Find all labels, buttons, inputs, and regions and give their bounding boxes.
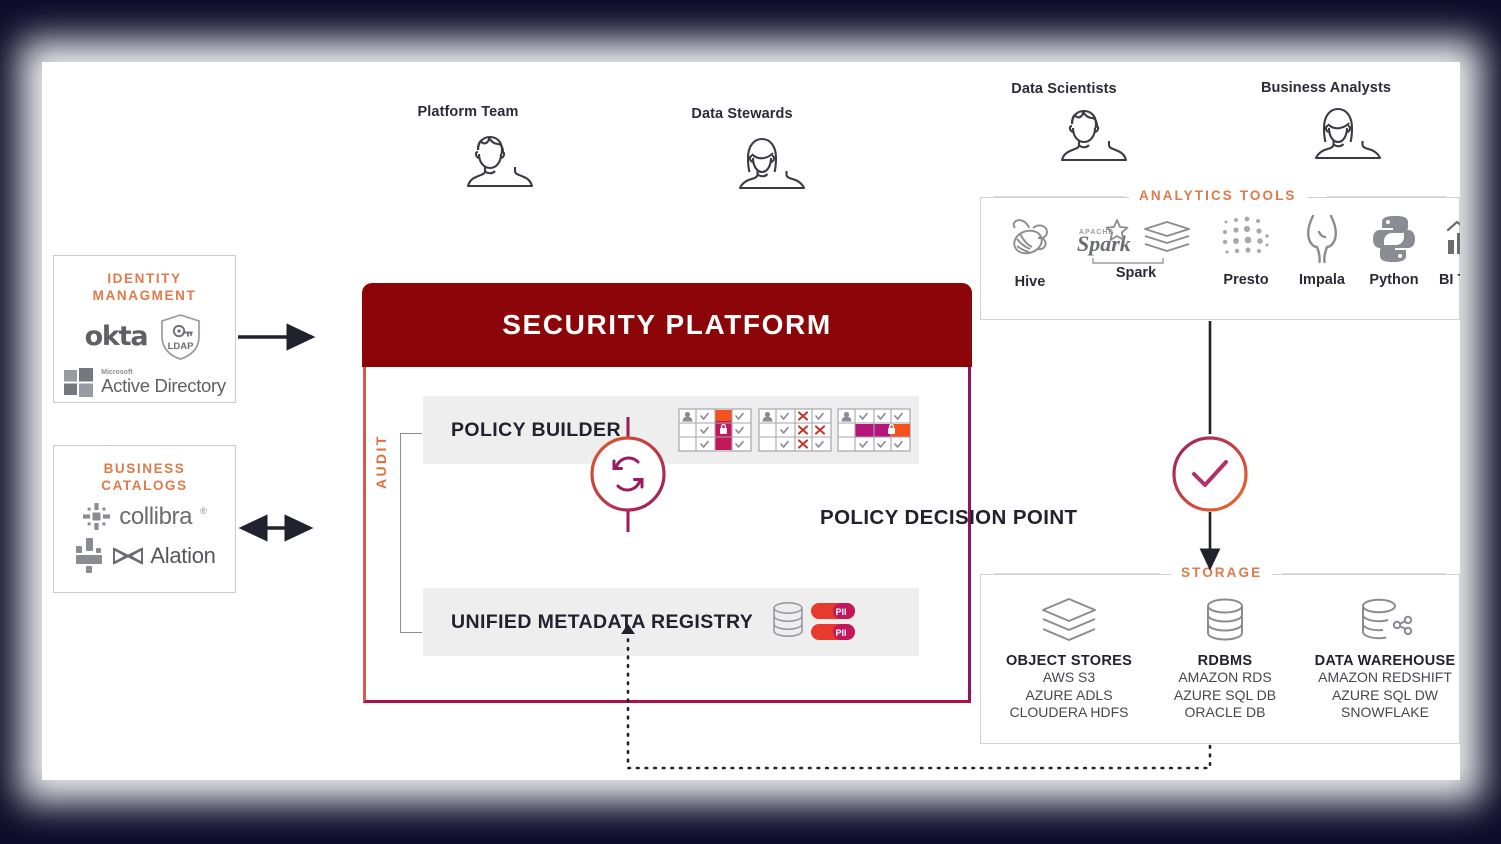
storage-title: STORAGE	[1171, 565, 1272, 580]
male-avatar-icon	[1050, 104, 1118, 166]
database-share-icon	[1357, 595, 1413, 647]
storage-data-warehouse[interactable]: DATA WAREHOUSE AMAZON REDSHIFT AZURE SQL…	[1299, 595, 1460, 722]
identity-management-title: IDENTITY MANAGMENT	[93, 270, 197, 304]
tool-spark[interactable]: APACHE Spark Spark	[1075, 212, 1197, 281]
business-catalogs-box: BUSINESS CATALOGS collibra ®	[53, 445, 236, 593]
tool-hive[interactable]: Hive	[991, 212, 1069, 290]
storage-item-line: AZURE SQL DW	[1299, 687, 1460, 705]
storage-item-line: AZURE SQL DB	[1147, 687, 1303, 705]
security-platform: SECURITY PLATFORM POLICY BUILDER	[362, 283, 972, 703]
security-platform-title: SECURITY PLATFORM	[502, 309, 832, 341]
persona-label-business-analysts: Business Analysts	[1228, 80, 1424, 96]
pii-badge: PII	[811, 603, 855, 619]
business-catalogs-title: BUSINESS CATALOGS	[101, 460, 188, 494]
storage-item-line: SNOWFLAKE	[1299, 704, 1460, 722]
audit-label: AUDIT	[373, 434, 389, 489]
alation-logo: Alation	[150, 543, 215, 569]
persona-label-platform-team: Platform Team	[388, 104, 548, 120]
storage-item-line: AMAZON REDSHIFT	[1299, 669, 1460, 687]
check-circle	[1174, 438, 1246, 510]
collibra-trademark: ®	[200, 506, 207, 516]
presto-dots-icon	[1216, 212, 1276, 266]
grid-lock-magenta	[679, 409, 751, 451]
analytics-title-rule	[995, 198, 1447, 199]
policy-decision-point-label: POLICY DECISION POINT	[820, 506, 1077, 530]
storage-item-line: CLOUDERA HDFS	[987, 704, 1151, 722]
tool-presto[interactable]: Presto	[1205, 212, 1287, 288]
svg-text:PII: PII	[836, 607, 847, 617]
svg-text:LDAP: LDAP	[168, 341, 195, 352]
persona-label-data-stewards: Data Stewards	[662, 106, 822, 122]
storage-item-line: AWS S3	[987, 669, 1151, 687]
tool-bi-tools[interactable]: BI Tools	[1423, 212, 1460, 288]
policy-builder-panel[interactable]: POLICY BUILDER	[423, 396, 919, 464]
storage-rdbms[interactable]: RDBMS AMAZON RDS AZURE SQL DB ORACLE DB	[1147, 595, 1303, 722]
security-platform-body: POLICY BUILDER	[363, 367, 971, 703]
bi-chart-search-icon	[1440, 212, 1460, 266]
apache-spark-icon: APACHE Spark	[1075, 212, 1197, 266]
alation-bowtie-icon	[112, 545, 145, 567]
policy-builder-title: POLICY BUILDER	[451, 419, 621, 442]
hive-bee-icon	[1003, 212, 1057, 266]
alation-mark-icon	[73, 537, 107, 575]
database-pii-icon: PII PII	[771, 599, 860, 645]
grid-deny	[759, 409, 831, 451]
microsoft-windows-icon	[63, 367, 94, 398]
diagram-canvas: Platform Team Data Stewards	[42, 62, 1460, 780]
impala-icon	[1299, 212, 1345, 266]
storage-item-title: OBJECT STORES	[987, 653, 1151, 669]
storage-item-title: DATA WAREHOUSE	[1299, 653, 1460, 669]
tool-label: Hive	[991, 274, 1069, 290]
svg-text:PII: PII	[836, 628, 847, 638]
identity-management-box: IDENTITY MANAGMENT okta LDAP	[53, 255, 236, 403]
analytics-tools-box: ANALYTICS TOOLS Hive APA	[980, 197, 1460, 320]
ldap-shield-icon: LDAP	[157, 312, 204, 361]
database-icon	[1201, 595, 1249, 647]
tool-label: Impala	[1281, 272, 1363, 288]
collibra-logo: collibra	[119, 503, 192, 531]
tool-label: BI Tools	[1423, 272, 1460, 288]
tool-impala[interactable]: Impala	[1281, 212, 1363, 288]
collibra-mark-icon	[82, 502, 111, 531]
analytics-tools-title: ANALYTICS TOOLS	[1129, 188, 1307, 203]
female-avatar-icon	[1304, 102, 1372, 164]
storage-item-line: AZURE ADLS	[987, 687, 1151, 705]
male-avatar-icon	[456, 130, 524, 192]
storage-box: STORAGE OBJECT STORES AWS S3 AZURE ADLS …	[980, 574, 1460, 744]
metadata-registry-panel[interactable]: UNIFIED METADATA REGISTRY PII	[423, 588, 919, 656]
persona-label-data-scientists: Data Scientists	[974, 81, 1154, 97]
metadata-registry-title: UNIFIED METADATA REGISTRY	[451, 611, 753, 634]
okta-logo: okta	[85, 321, 148, 352]
python-icon	[1370, 212, 1418, 266]
storage-item-title: RDBMS	[1147, 653, 1303, 669]
layers-icon	[1039, 595, 1099, 647]
storage-item-line: AMAZON RDS	[1147, 669, 1303, 687]
storage-item-line: ORACLE DB	[1147, 704, 1303, 722]
security-platform-header: SECURITY PLATFORM	[362, 283, 972, 367]
storage-object-stores[interactable]: OBJECT STORES AWS S3 AZURE ADLS CLOUDERA…	[987, 595, 1151, 722]
tool-label: Spark	[1075, 265, 1197, 281]
active-directory-logo: Active Directory	[101, 377, 226, 396]
female-avatar-icon	[728, 132, 796, 194]
pii-badge: PII	[811, 624, 855, 640]
databricks-layers-icon	[1145, 222, 1189, 251]
audit-bracket	[400, 433, 422, 633]
policy-grid-icons	[678, 408, 910, 452]
diagram-root: Platform Team Data Stewards	[0, 0, 1501, 844]
grid-mask	[838, 409, 910, 451]
tool-label: Presto	[1205, 272, 1287, 288]
